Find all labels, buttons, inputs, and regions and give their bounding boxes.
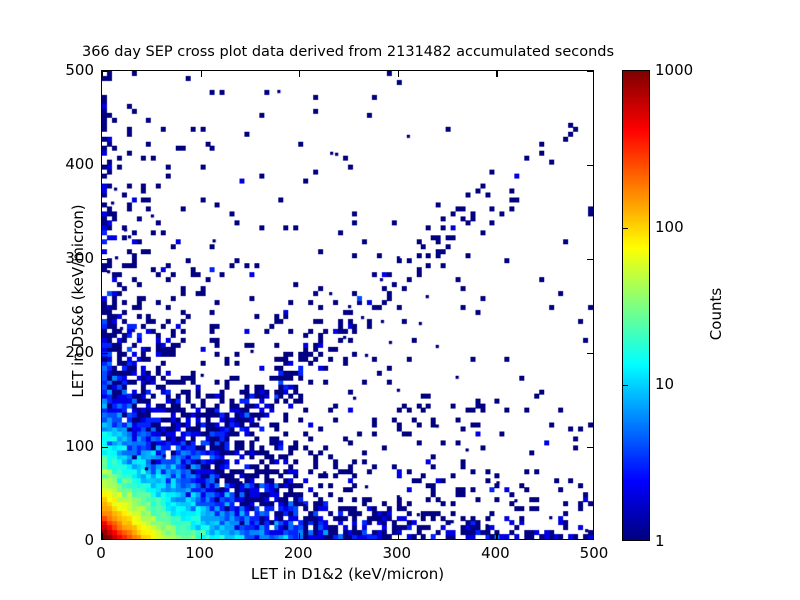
colorbar-tick-label: 1 — [655, 532, 665, 550]
x-tick-mark — [398, 71, 399, 77]
y-tick-mark — [102, 259, 108, 260]
y-tick-mark — [102, 165, 108, 166]
y-tick-label: 300 — [24, 249, 94, 267]
y-tick-label: 100 — [24, 437, 94, 455]
y-tick-label: 0 — [24, 531, 94, 549]
x-tick-mark — [201, 533, 202, 539]
figure-canvas: 366 day SEP cross plot data derived from… — [0, 0, 800, 600]
colorbar[interactable] — [622, 70, 650, 541]
x-tick-mark — [398, 533, 399, 539]
y-tick-label: 200 — [24, 343, 94, 361]
y-tick-mark — [587, 447, 593, 448]
x-axis-label: LET in D1&2 (keV/micron) — [101, 565, 594, 583]
colorbar-tick-label: 10 — [655, 375, 674, 393]
x-tick-label: 300 — [362, 544, 432, 562]
x-tick-mark — [102, 533, 103, 539]
y-tick-mark — [587, 259, 593, 260]
x-tick-label: 100 — [165, 544, 235, 562]
y-tick-mark — [102, 353, 108, 354]
x-tick-label: 200 — [263, 544, 333, 562]
plot-axes[interactable] — [101, 70, 594, 540]
x-tick-mark — [201, 71, 202, 77]
colorbar-tick-label: 1000 — [655, 61, 693, 79]
colorbar-tick-mark — [623, 385, 628, 386]
colorbar-label: Counts — [707, 234, 725, 394]
x-tick-label: 400 — [460, 544, 530, 562]
y-tick-mark — [587, 353, 593, 354]
y-tick-mark — [587, 165, 593, 166]
plot-title-line-1: 366 day SEP cross plot data derived from… — [0, 43, 696, 61]
colorbar-tick-mark — [623, 228, 628, 229]
x-tick-label: 500 — [559, 544, 629, 562]
x-tick-mark — [299, 533, 300, 539]
y-tick-label: 400 — [24, 155, 94, 173]
scatter-heatmap-data — [102, 71, 593, 539]
y-tick-mark — [587, 71, 593, 72]
colorbar-gradient — [623, 71, 649, 540]
y-tick-mark — [102, 447, 108, 448]
y-tick-label: 500 — [24, 61, 94, 79]
y-axis-label: LET in D5&6 (keV/micron) — [69, 131, 87, 471]
y-tick-mark — [102, 71, 108, 72]
x-tick-mark — [496, 71, 497, 77]
colorbar-tick-label: 100 — [655, 218, 684, 236]
x-tick-mark — [496, 533, 497, 539]
x-tick-mark — [299, 71, 300, 77]
